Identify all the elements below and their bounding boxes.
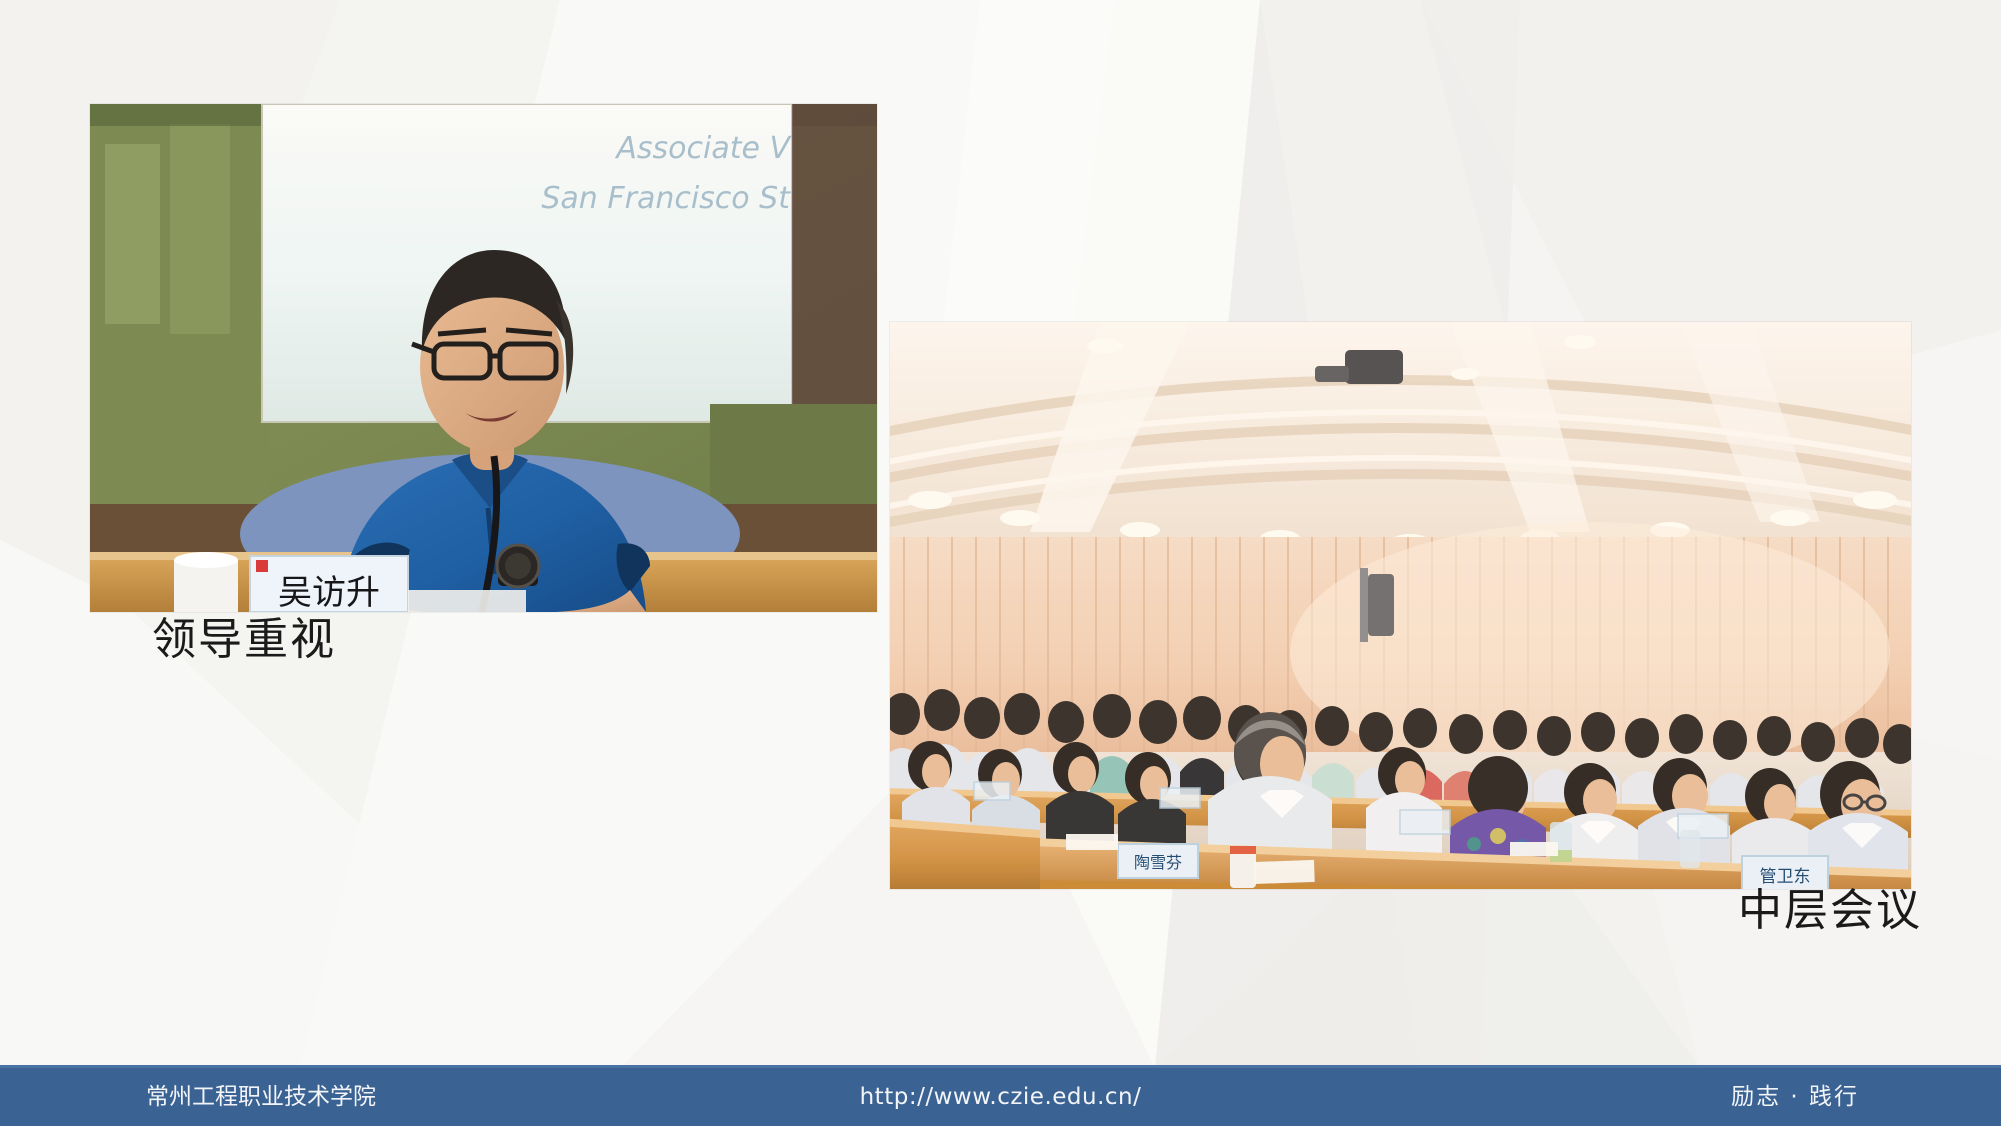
footer-organization-name: 常州工程职业技术学院 xyxy=(146,1086,376,1109)
middle-level-meeting-photo[interactable]: 陶雪芬 管卫东 xyxy=(890,322,1911,889)
caption-middle-level-meeting: 中层会议 xyxy=(1738,889,1922,933)
caption-leader-attention: 领导重视 xyxy=(152,618,336,662)
footer-website-url[interactable]: http://www.czie.edu.cn/ xyxy=(860,1086,1142,1109)
slide-footer-bar: 常州工程职业技术学院 http://www.czie.edu.cn/ 励志 · … xyxy=(0,1065,2001,1126)
leader-speaking-photo[interactable]: Associate V San Francisco St xyxy=(90,104,877,612)
svg-text:San Francisco St: San Francisco St xyxy=(541,181,791,216)
presentation-slide: Associate V San Francisco St xyxy=(0,0,2001,1126)
svg-text:Associate V: Associate V xyxy=(614,131,792,166)
footer-motto: 励志 · 践行 xyxy=(1731,1086,1859,1109)
svg-text:吴访升: 吴访升 xyxy=(278,573,380,612)
